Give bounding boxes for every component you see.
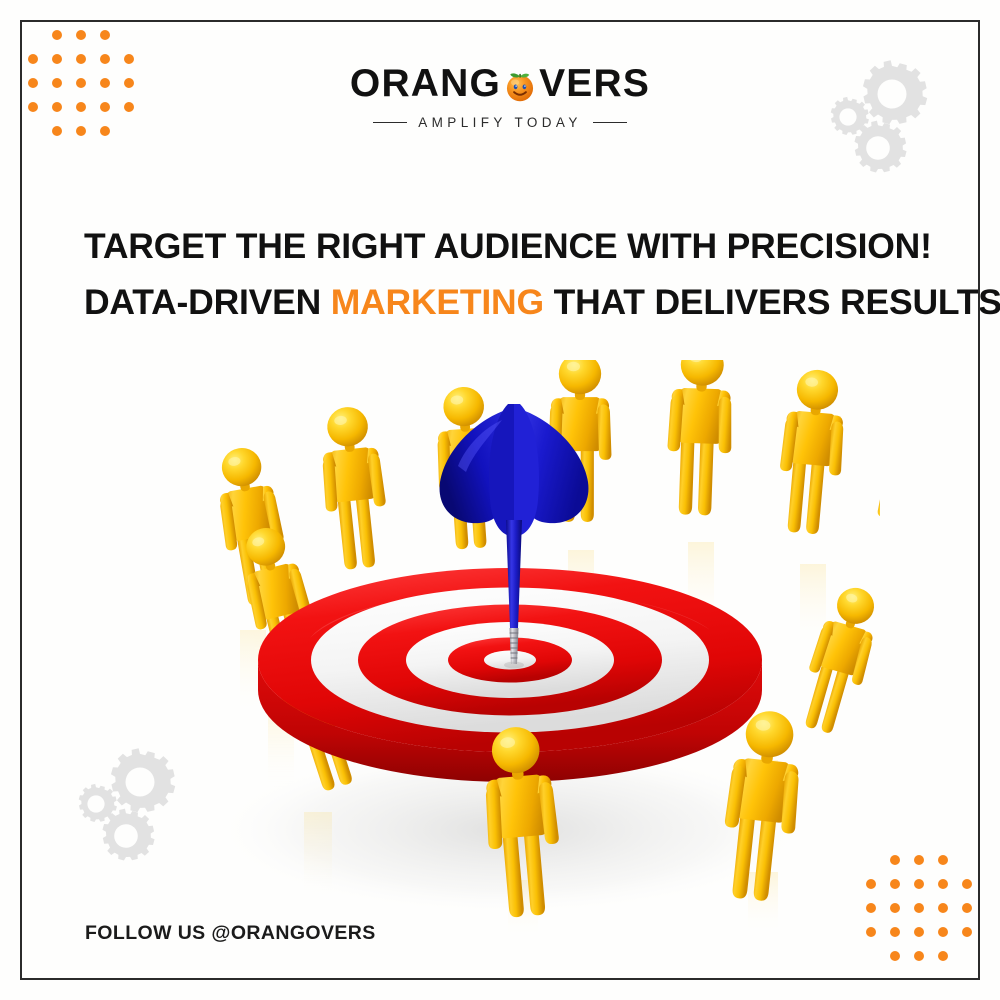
decor-dot bbox=[962, 927, 972, 937]
decor-dot bbox=[890, 927, 900, 937]
decor-dot bbox=[914, 879, 924, 889]
decor-dot bbox=[890, 879, 900, 889]
follow-us-text: FOLLOW US @ORANGOVERS bbox=[85, 922, 376, 945]
decor-dot bbox=[962, 903, 972, 913]
hero-illustration bbox=[140, 360, 880, 940]
brand-name-part2: VERS bbox=[539, 62, 650, 106]
headline-line-2: DATA-DRIVEN MARKETING THAT DELIVERS RESU… bbox=[84, 274, 944, 330]
decor-dot bbox=[914, 927, 924, 937]
brand-tagline: AMPLIFY TODAY bbox=[0, 115, 1000, 130]
figure bbox=[316, 404, 393, 571]
decor-dot bbox=[938, 879, 948, 889]
decor-dot bbox=[890, 903, 900, 913]
decor-dot bbox=[890, 951, 900, 961]
brand-name-part1: ORANG bbox=[350, 62, 501, 106]
figure bbox=[665, 360, 735, 516]
decor-dot bbox=[938, 903, 948, 913]
tagline-rule-right bbox=[593, 122, 627, 124]
orange-fruit-icon bbox=[502, 68, 538, 104]
brand-logo: ORANG bbox=[0, 62, 1000, 130]
decor-dot bbox=[914, 855, 924, 865]
tagline-text: AMPLIFY TODAY bbox=[418, 115, 582, 130]
brand-name: ORANG bbox=[350, 62, 650, 106]
headline-line-1: TARGET THE RIGHT AUDIENCE WITH PRECISION… bbox=[84, 218, 944, 274]
decor-dot bbox=[890, 855, 900, 865]
dot-grid-bottom-right bbox=[866, 855, 986, 975]
headline-accent-word: MARKETING bbox=[331, 282, 544, 322]
headline-line-2-before: DATA-DRIVEN bbox=[84, 282, 331, 322]
decor-dot bbox=[938, 927, 948, 937]
decor-dot bbox=[76, 30, 86, 40]
decor-dot bbox=[962, 879, 972, 889]
decor-dot bbox=[100, 30, 110, 40]
decor-dot bbox=[914, 951, 924, 961]
decor-dot bbox=[52, 30, 62, 40]
figure bbox=[868, 415, 880, 584]
decor-dot bbox=[914, 903, 924, 913]
decor-dot bbox=[938, 855, 948, 865]
headline-line-2-after: THAT DELIVERS RESULTS. bbox=[544, 282, 1000, 322]
poster-canvas: ORANG bbox=[0, 0, 1000, 1000]
figure bbox=[774, 367, 849, 536]
headline-block: TARGET THE RIGHT AUDIENCE WITH PRECISION… bbox=[84, 218, 944, 330]
decor-dot bbox=[938, 951, 948, 961]
tagline-rule-left bbox=[373, 122, 407, 124]
dart-grip bbox=[510, 628, 519, 664]
